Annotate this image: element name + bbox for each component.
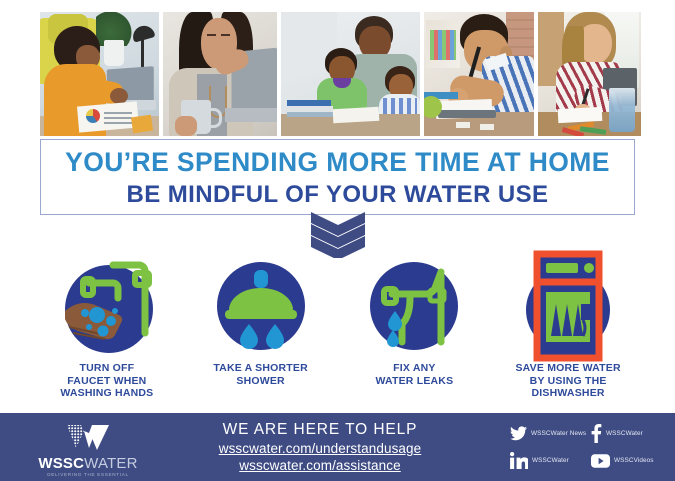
photo-girl-writing-with-water [538, 12, 641, 136]
wssc-w-mark-icon [65, 424, 111, 450]
social-handle: WSSCWater News [531, 430, 586, 437]
help-block: WE ARE HERE TO HELP wsscwater.com/unders… [170, 421, 470, 473]
shower-head-icon [209, 252, 313, 360]
social-handle: WSSCWater [532, 457, 569, 464]
social-youtube[interactable]: WSSCVideos [591, 452, 670, 469]
logo-tagline: DELIVERING THE ESSENTIAL [36, 472, 140, 477]
tip-label: SAVE MORE WATER BY USING THE DISHWASHER [515, 362, 620, 400]
washing-hands-icon [53, 252, 161, 360]
tip-label: FIX ANY WATER LEAKS [375, 362, 453, 387]
link-assistance[interactable]: wsscwater.com/assistance [170, 458, 470, 473]
logo-word-secondary: WATER [84, 455, 138, 472]
photo-girl-writing-at-desk [40, 12, 159, 136]
tip-label: TAKE A SHORTER SHOWER [213, 362, 308, 387]
social-twitter[interactable]: WSSCWater News [510, 424, 589, 443]
headline-box: YOU’RE SPENDING MORE TIME AT HOME BE MIN… [40, 139, 635, 215]
dishwasher-icon [513, 252, 623, 360]
social-links: WSSCWater News WSSCWater WSSCWater WSSCV… [510, 424, 670, 469]
social-facebook[interactable]: WSSCWater [591, 424, 670, 443]
link-understandusage[interactable]: wsscwater.com/understandusage [170, 441, 470, 456]
twitter-icon [510, 426, 527, 441]
logo-wordmark: WSSCWATER [36, 456, 140, 471]
social-handle: WSSCVideos [614, 457, 654, 464]
wssc-water-logo: WSSCWATER DELIVERING THE ESSENTIAL [36, 424, 140, 477]
social-handle: WSSCWater [606, 430, 643, 437]
logo-word-primary: WSSC [38, 455, 84, 472]
facebook-icon [591, 424, 602, 443]
youtube-icon [591, 454, 610, 468]
tip-label: TURN OFF FAUCET WHEN WASHING HANDS [60, 362, 153, 400]
water-saving-tips-row: TURN OFF FAUCET WHEN WASHING HANDS TAKE … [30, 252, 645, 407]
leaky-faucet-icon [362, 252, 466, 360]
help-title: WE ARE HERE TO HELP [170, 421, 470, 439]
photo-boy-writing [424, 12, 534, 136]
tip-turn-off-faucet: TURN OFF FAUCET WHEN WASHING HANDS [30, 252, 184, 407]
photo-woman-at-laptop [163, 12, 277, 136]
headline-line-2: BE MINDFUL OF YOUR WATER USE [41, 181, 634, 209]
tip-take-shorter-shower: TAKE A SHORTER SHOWER [184, 252, 338, 407]
photo-father-helping-children [281, 12, 420, 136]
linkedin-icon [510, 452, 528, 469]
tip-fix-water-leaks: FIX ANY WATER LEAKS [338, 252, 492, 407]
tip-use-dishwasher: SAVE MORE WATER BY USING THE DISHWASHER [491, 252, 645, 407]
social-linkedin[interactable]: WSSCWater [510, 452, 589, 469]
headline-line-1: YOU’RE SPENDING MORE TIME AT HOME [41, 147, 634, 178]
photo-strip [40, 12, 637, 136]
